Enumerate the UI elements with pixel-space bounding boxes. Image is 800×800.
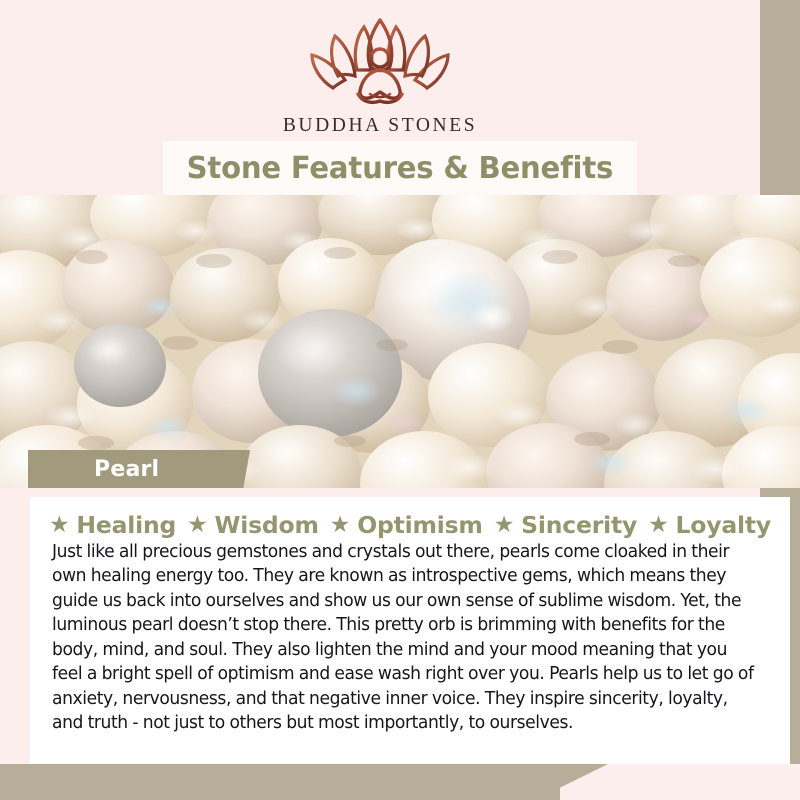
keyword-list: ★ Healing ★ Wisdom ★ Optimism ★ Sincerit… xyxy=(52,511,768,539)
keyword-label: Optimism xyxy=(357,511,483,539)
star-icon: ★ xyxy=(494,514,514,537)
keyword-label: Healing xyxy=(76,511,176,539)
content-card: ★ Healing ★ Wisdom ★ Optimism ★ Sincerit… xyxy=(30,497,790,764)
keyword-optimism: ★ Optimism xyxy=(319,511,483,539)
star-icon: ★ xyxy=(187,514,207,537)
bottom-tan-band xyxy=(0,764,608,800)
lotus-meditation-icon xyxy=(0,14,760,111)
stone-name-tag: Pearl xyxy=(28,450,250,488)
stone-name: Pearl xyxy=(28,457,159,482)
title-banner: Stone Features & Benefits xyxy=(163,141,637,195)
star-icon: ★ xyxy=(49,514,69,537)
brand-name: BUDDHA STONES xyxy=(0,115,760,137)
star-icon: ★ xyxy=(648,514,668,537)
keyword-wisdom: ★ Wisdom xyxy=(176,511,319,539)
keyword-label: Loyalty xyxy=(676,511,772,539)
stone-features-infographic: BUDDHA STONES Stone Features & Benefits xyxy=(0,0,800,800)
keyword-label: Sincerity xyxy=(521,511,637,539)
keyword-healing: ★ Healing xyxy=(49,511,176,539)
stone-description: Just like all precious gemstones and cry… xyxy=(52,540,757,736)
pearl-stones-photo xyxy=(0,195,800,488)
keyword-sincerity: ★ Sincerity xyxy=(483,511,637,539)
page-title: Stone Features & Benefits xyxy=(187,151,614,186)
brand-logo-block: BUDDHA STONES xyxy=(0,14,760,137)
keyword-label: Wisdom xyxy=(215,511,319,539)
keyword-loyalty: ★ Loyalty xyxy=(637,511,771,539)
star-icon: ★ xyxy=(330,514,350,537)
